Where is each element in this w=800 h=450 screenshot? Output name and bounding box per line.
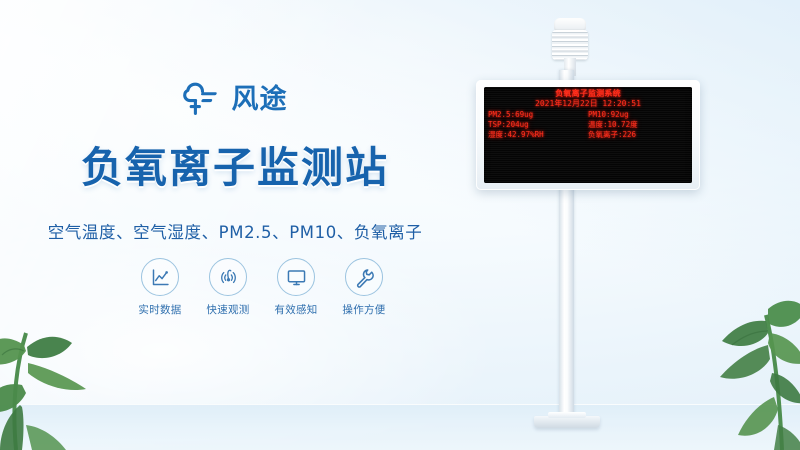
signal-radar-icon (209, 258, 247, 296)
led-display-frame: 负氧离子监测系统 2021年12月22日 12:20:51 PM2.5:69ug… (476, 80, 700, 190)
monitor-icon (277, 258, 315, 296)
led-reading-tsp: TSP:204ug (488, 121, 588, 129)
feature-item-easy-operation: 操作方便 (336, 258, 392, 317)
feature-label: 有效感知 (268, 302, 324, 317)
wrench-icon (345, 258, 383, 296)
brand-logo: 风途 (0, 78, 470, 120)
monitoring-station: 负氧离子监测系统 2021年12月22日 12:20:51 PM2.5:69ug… (476, 18, 716, 438)
radiation-shield-sensor-icon (550, 18, 590, 74)
feature-label: 实时数据 (132, 302, 188, 317)
led-display-screen: 负氧离子监测系统 2021年12月22日 12:20:51 PM2.5:69ug… (484, 87, 692, 183)
led-display-title: 负氧离子监测系统 (484, 90, 692, 98)
led-reading-humidity: 湿度:42.97%RH (488, 131, 588, 139)
feature-label: 快速观测 (200, 302, 256, 317)
feature-label: 操作方便 (336, 302, 392, 317)
feature-item-fast-observation: 快速观测 (200, 258, 256, 317)
hero-subtitle: 空气温度、空气湿度、PM2.5、PM10、负氧离子 (0, 219, 470, 243)
led-display-datetime: 2021年12月22日 12:20:51 (484, 100, 692, 108)
led-reading-temperature: 温度:10.72度 (588, 121, 688, 129)
hero-text-block: 风途 负氧离子监测站 空气温度、空气湿度、PM2.5、PM10、负氧离子 (0, 78, 470, 243)
brand-name: 风途 (232, 86, 288, 113)
led-reading-pm10: PM10:92ug (588, 111, 688, 119)
feature-item-realtime-data: 实时数据 (132, 258, 188, 317)
sensor-louver-plates (552, 30, 588, 60)
led-reading-pm25: PM2.5:69ug (488, 111, 588, 119)
promo-banner: 风途 负氧离子监测站 空气温度、空气湿度、PM2.5、PM10、负氧离子 实时数… (0, 0, 800, 450)
feature-item-effective-sensing: 有效感知 (268, 258, 324, 317)
led-reading-row: 湿度:42.97%RH 负氧离子:226 (488, 131, 688, 139)
led-display-readings: PM2.5:69ug PM10:92ug TSP:204ug 温度:10.72度… (484, 111, 692, 138)
station-base-plate (534, 416, 600, 428)
page-title: 负氧离子监测站 (0, 134, 470, 195)
feature-list: 实时数据 快速观测 (132, 258, 392, 317)
led-reading-row: PM2.5:69ug PM10:92ug (488, 111, 688, 119)
led-reading-negative-oxygen-ion: 负氧离子:226 (588, 131, 688, 139)
line-chart-icon (141, 258, 179, 296)
fengtu-cloud-logo-icon (183, 82, 223, 116)
led-reading-row: TSP:204ug 温度:10.72度 (488, 121, 688, 129)
